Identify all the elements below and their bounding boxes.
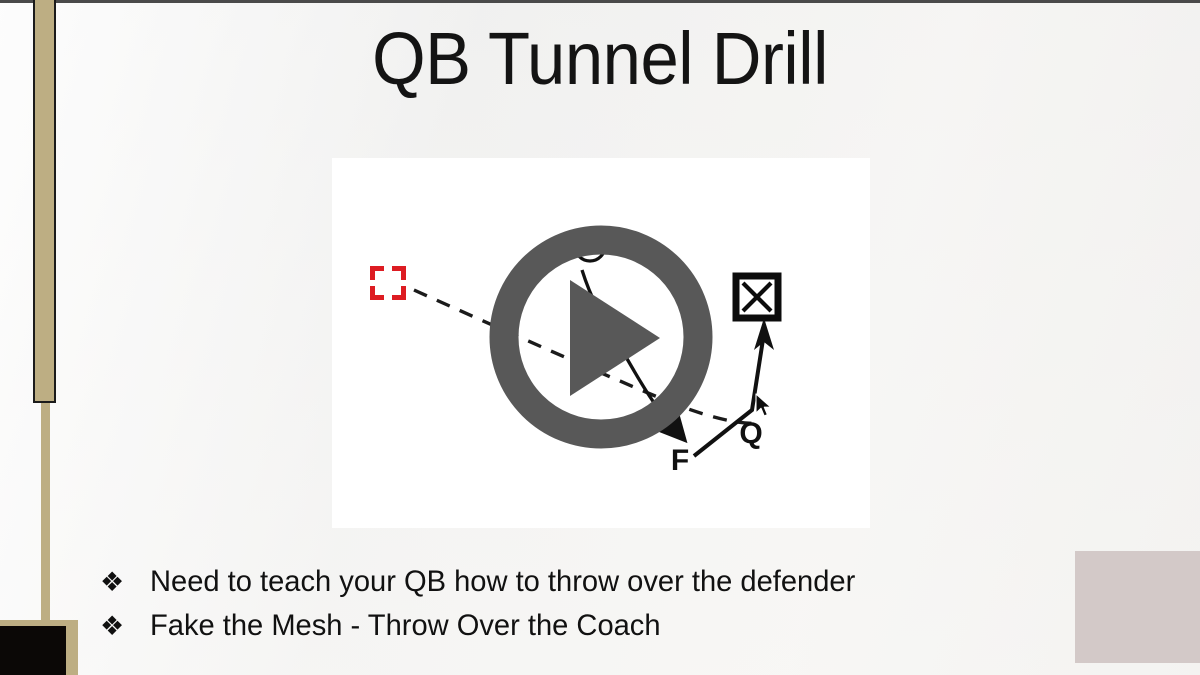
dark-base-block-decoration	[0, 626, 66, 675]
slide: QB Tunnel Drill	[0, 0, 1200, 675]
slide-top-edge	[0, 0, 1200, 3]
bullet-list: ❖ Need to teach your QB how to throw ove…	[100, 567, 1100, 655]
fullback-label: F	[671, 444, 689, 477]
page-title: QB Tunnel Drill	[42, 22, 1158, 96]
defender-marker-icon	[736, 276, 778, 318]
bullet-text: Fake the Mesh - Throw Over the Coach	[150, 611, 661, 641]
play-diagram-svg: C F Q	[332, 158, 870, 528]
video-player-panel[interactable]: C F Q	[332, 158, 870, 528]
bullet-diamond-icon: ❖	[100, 613, 150, 640]
bullet-text: Need to teach your QB how to throw over …	[150, 567, 855, 597]
list-item: ❖ Fake the Mesh - Throw Over the Coach	[100, 611, 1100, 655]
bullet-diamond-icon: ❖	[100, 569, 150, 596]
quarterback-label: Q	[739, 417, 762, 450]
list-item: ❖ Need to teach your QB how to throw ove…	[100, 567, 1100, 611]
tan-post-stem-decoration	[41, 403, 50, 625]
